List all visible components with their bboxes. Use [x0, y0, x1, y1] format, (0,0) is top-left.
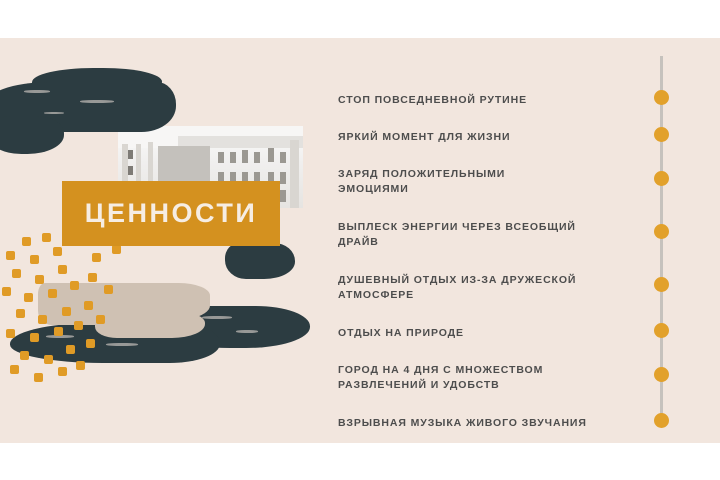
- list-item[interactable]: ЗАРЯД ПОЛОЖИТЕЛЬНЫМИ ЭМОЦИЯМИ: [338, 167, 660, 197]
- photo-window: [230, 152, 236, 163]
- list-item-label: ЗАРЯД ПОЛОЖИТЕЛЬНЫМИ ЭМОЦИЯМИ: [338, 167, 660, 197]
- confetti-dot: [66, 345, 75, 354]
- confetti-dot: [53, 247, 62, 256]
- photo-window: [280, 172, 286, 184]
- confetti-dot: [10, 365, 19, 374]
- photo-window: [280, 190, 286, 202]
- confetti-dot: [30, 333, 39, 342]
- brush-stroke-left: [0, 116, 64, 154]
- list-item[interactable]: ОТДЫХ НА ПРИРОДЕ: [338, 326, 660, 341]
- list-item-label: ВЫПЛЕСК ЭНЕРГИИ ЧЕРЕЗ ВСЕОБЩИЙ ДРАЙВ: [338, 220, 660, 250]
- values-title-badge: ЦЕННОСТИ: [62, 181, 280, 246]
- brush-texture: [24, 90, 50, 93]
- confetti-dot: [74, 321, 83, 330]
- list-item[interactable]: ГОРОД НА 4 ДНЯ С МНОЖЕСТВОМ РАЗВЛЕЧЕНИЙ …: [338, 363, 660, 393]
- confetti-dot: [6, 329, 15, 338]
- timeline-bullet-icon: [654, 224, 669, 239]
- confetti-dot: [20, 351, 29, 360]
- confetti-dot-field: [0, 233, 200, 403]
- confetti-dot: [2, 287, 11, 296]
- timeline-bullet-icon: [654, 90, 669, 105]
- photo-window: [268, 148, 274, 162]
- photo-window: [280, 152, 286, 163]
- confetti-dot: [88, 273, 97, 282]
- confetti-dot: [84, 301, 93, 310]
- photo-window: [254, 152, 260, 163]
- values-list: СТОП ПОВСЕДНЕВНОЙ РУТИНЕ ЯРКИЙ МОМЕНТ ДЛ…: [338, 38, 720, 443]
- list-item[interactable]: ДУШЕВНЫЙ ОТДЫХ ИЗ-ЗА ДРУЖЕСКОЙ АТМОСФЕРЕ: [338, 273, 660, 303]
- confetti-dot: [34, 373, 43, 382]
- frame-bottom-margin: [0, 443, 720, 480]
- confetti-dot: [12, 269, 21, 278]
- photo-window: [242, 150, 248, 163]
- confetti-dot: [48, 289, 57, 298]
- confetti-dot: [42, 233, 51, 242]
- decorative-collage: ЦЕННОСТИ: [0, 38, 320, 443]
- confetti-dot: [62, 307, 71, 316]
- confetti-dot: [35, 275, 44, 284]
- timeline-bullet-icon: [654, 171, 669, 186]
- timeline-bullet-icon: [654, 367, 669, 382]
- slide-canvas: ЦЕННОСТИ СТОП ПОВСЕДНЕВНОЙ РУТИНЕ ЯРКИЙ …: [0, 38, 720, 443]
- list-item[interactable]: СТОП ПОВСЕДНЕВНОЙ РУТИНЕ: [338, 93, 660, 108]
- confetti-dot: [58, 265, 67, 274]
- brush-texture: [202, 316, 232, 319]
- confetti-dot: [58, 367, 67, 376]
- timeline-bullet-icon: [654, 277, 669, 292]
- confetti-dot: [54, 327, 63, 336]
- photo-window: [128, 166, 133, 175]
- slide-frame: ЦЕННОСТИ СТОП ПОВСЕДНЕВНОЙ РУТИНЕ ЯРКИЙ …: [0, 0, 720, 480]
- confetti-dot: [44, 355, 53, 364]
- photo-window: [128, 150, 133, 159]
- confetti-dot: [70, 281, 79, 290]
- confetti-dot: [92, 253, 101, 262]
- photo-pillar: [290, 140, 299, 208]
- confetti-dot: [76, 361, 85, 370]
- confetti-dot: [22, 237, 31, 246]
- confetti-dot: [30, 255, 39, 264]
- list-item-label: ДУШЕВНЫЙ ОТДЫХ ИЗ-ЗА ДРУЖЕСКОЙ АТМОСФЕРЕ: [338, 273, 660, 303]
- list-item-label: ГОРОД НА 4 ДНЯ С МНОЖЕСТВОМ РАЗВЛЕЧЕНИЙ …: [338, 363, 660, 393]
- confetti-dot: [86, 339, 95, 348]
- list-item-label: ОТДЫХ НА ПРИРОДЕ: [338, 326, 660, 341]
- confetti-dot: [104, 285, 113, 294]
- frame-top-margin: [0, 0, 720, 38]
- confetti-dot: [96, 315, 105, 324]
- list-item[interactable]: ЯРКИЙ МОМЕНТ ДЛЯ ЖИЗНИ: [338, 130, 660, 145]
- timeline-bullet-icon: [654, 323, 669, 338]
- confetti-dot: [38, 315, 47, 324]
- confetti-dot: [112, 245, 121, 254]
- timeline-bullet-icon: [654, 413, 669, 428]
- values-title-text: ЦЕННОСТИ: [85, 198, 257, 229]
- timeline-bullet-icon: [654, 127, 669, 142]
- brush-texture: [44, 112, 64, 114]
- list-item-label: ЯРКИЙ МОМЕНТ ДЛЯ ЖИЗНИ: [338, 130, 660, 145]
- brush-stroke-right-small: [225, 243, 295, 279]
- list-item[interactable]: ВЫПЛЕСК ЭНЕРГИИ ЧЕРЕЗ ВСЕОБЩИЙ ДРАЙВ: [338, 220, 660, 250]
- photo-window: [218, 152, 224, 163]
- list-item[interactable]: ВЗРЫВНАЯ МУЗЫКА ЖИВОГО ЗВУЧАНИЯ: [338, 416, 660, 431]
- brush-texture: [80, 100, 114, 103]
- list-item-label: СТОП ПОВСЕДНЕВНОЙ РУТИНЕ: [338, 93, 660, 108]
- list-item-label: ВЗРЫВНАЯ МУЗЫКА ЖИВОГО ЗВУЧАНИЯ: [338, 416, 660, 431]
- confetti-dot: [6, 251, 15, 260]
- brush-texture: [236, 330, 258, 333]
- confetti-dot: [16, 309, 25, 318]
- confetti-dot: [24, 293, 33, 302]
